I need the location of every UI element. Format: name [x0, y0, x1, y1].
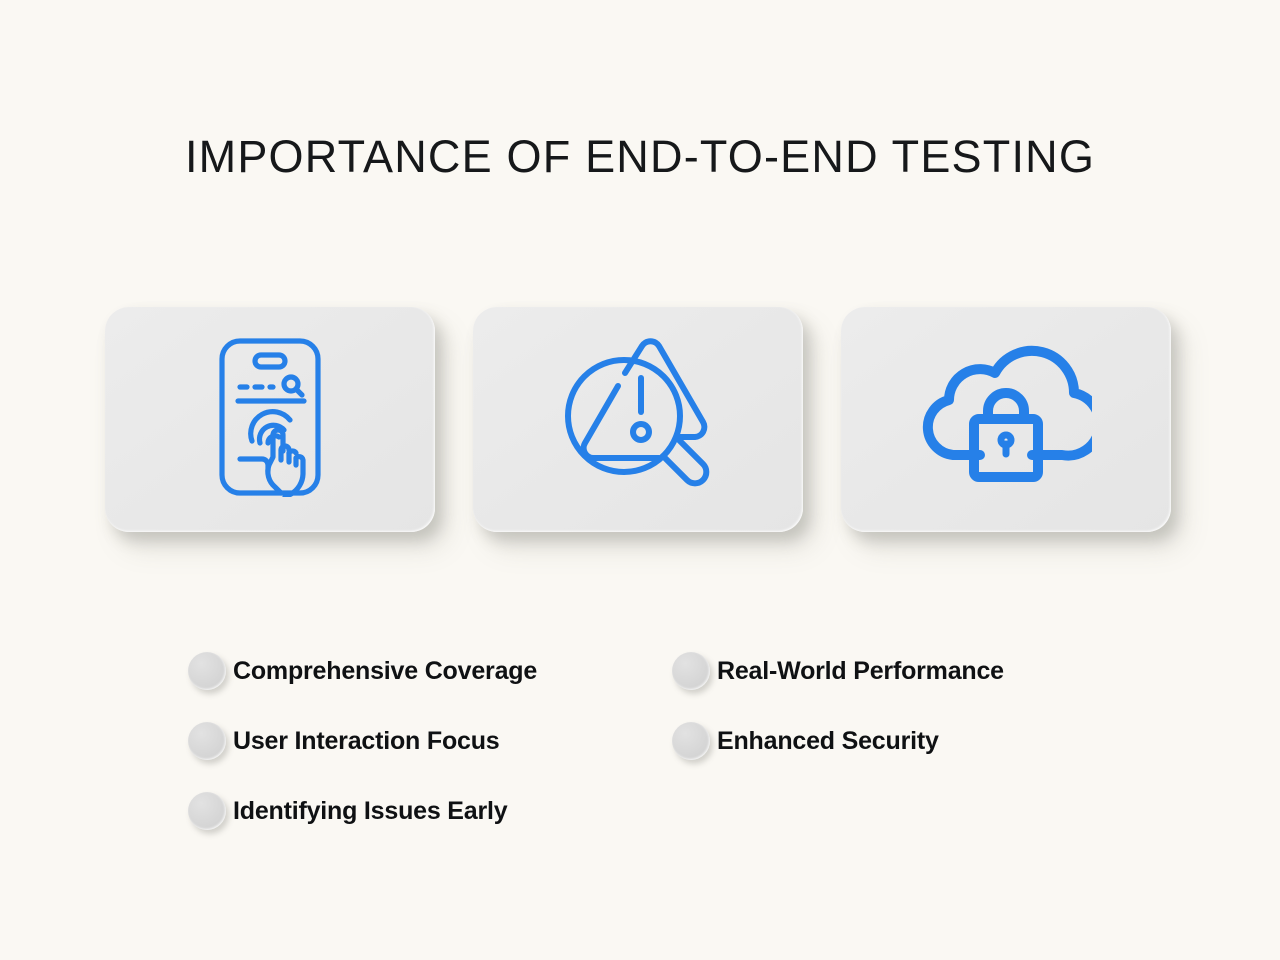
phone-tap-icon [218, 337, 322, 502]
list-item[interactable]: Identifying Issues Early [188, 776, 537, 846]
list-item-label: Identifying Issues Early [233, 797, 507, 826]
list-item[interactable]: User Interaction Focus [188, 706, 537, 776]
list-item[interactable]: Comprehensive Coverage [188, 636, 537, 706]
bullet-dot-icon [672, 652, 710, 690]
list-item[interactable]: Real-World Performance [672, 636, 1004, 706]
cloud-lock-icon [920, 343, 1092, 496]
icon-card-3[interactable] [841, 307, 1171, 532]
list-item-label: Real-World Performance [717, 657, 1004, 686]
icon-card-1[interactable] [105, 307, 435, 532]
magnifier-warning-icon [563, 338, 713, 501]
bullet-dot-icon [188, 652, 226, 690]
icon-card-row [0, 307, 1280, 542]
icon-card-2[interactable] [473, 307, 803, 532]
list-item-label: Comprehensive Coverage [233, 657, 537, 686]
benefit-list-right-column: Real-World Performance Enhanced Security [672, 636, 1004, 776]
list-item-label: Enhanced Security [717, 727, 939, 756]
list-item-label: User Interaction Focus [233, 727, 500, 756]
bullet-dot-icon [672, 722, 710, 760]
slide-canvas: IMPORTANCE OF END-TO-END TESTING [0, 0, 1280, 960]
bullet-dot-icon [188, 722, 226, 760]
benefit-list-left-column: Comprehensive Coverage User Interaction … [188, 636, 537, 846]
benefit-list: Comprehensive Coverage User Interaction … [0, 636, 1280, 856]
list-item[interactable]: Enhanced Security [672, 706, 1004, 776]
page-title: IMPORTANCE OF END-TO-END TESTING [0, 131, 1280, 183]
bullet-dot-icon [188, 792, 226, 830]
